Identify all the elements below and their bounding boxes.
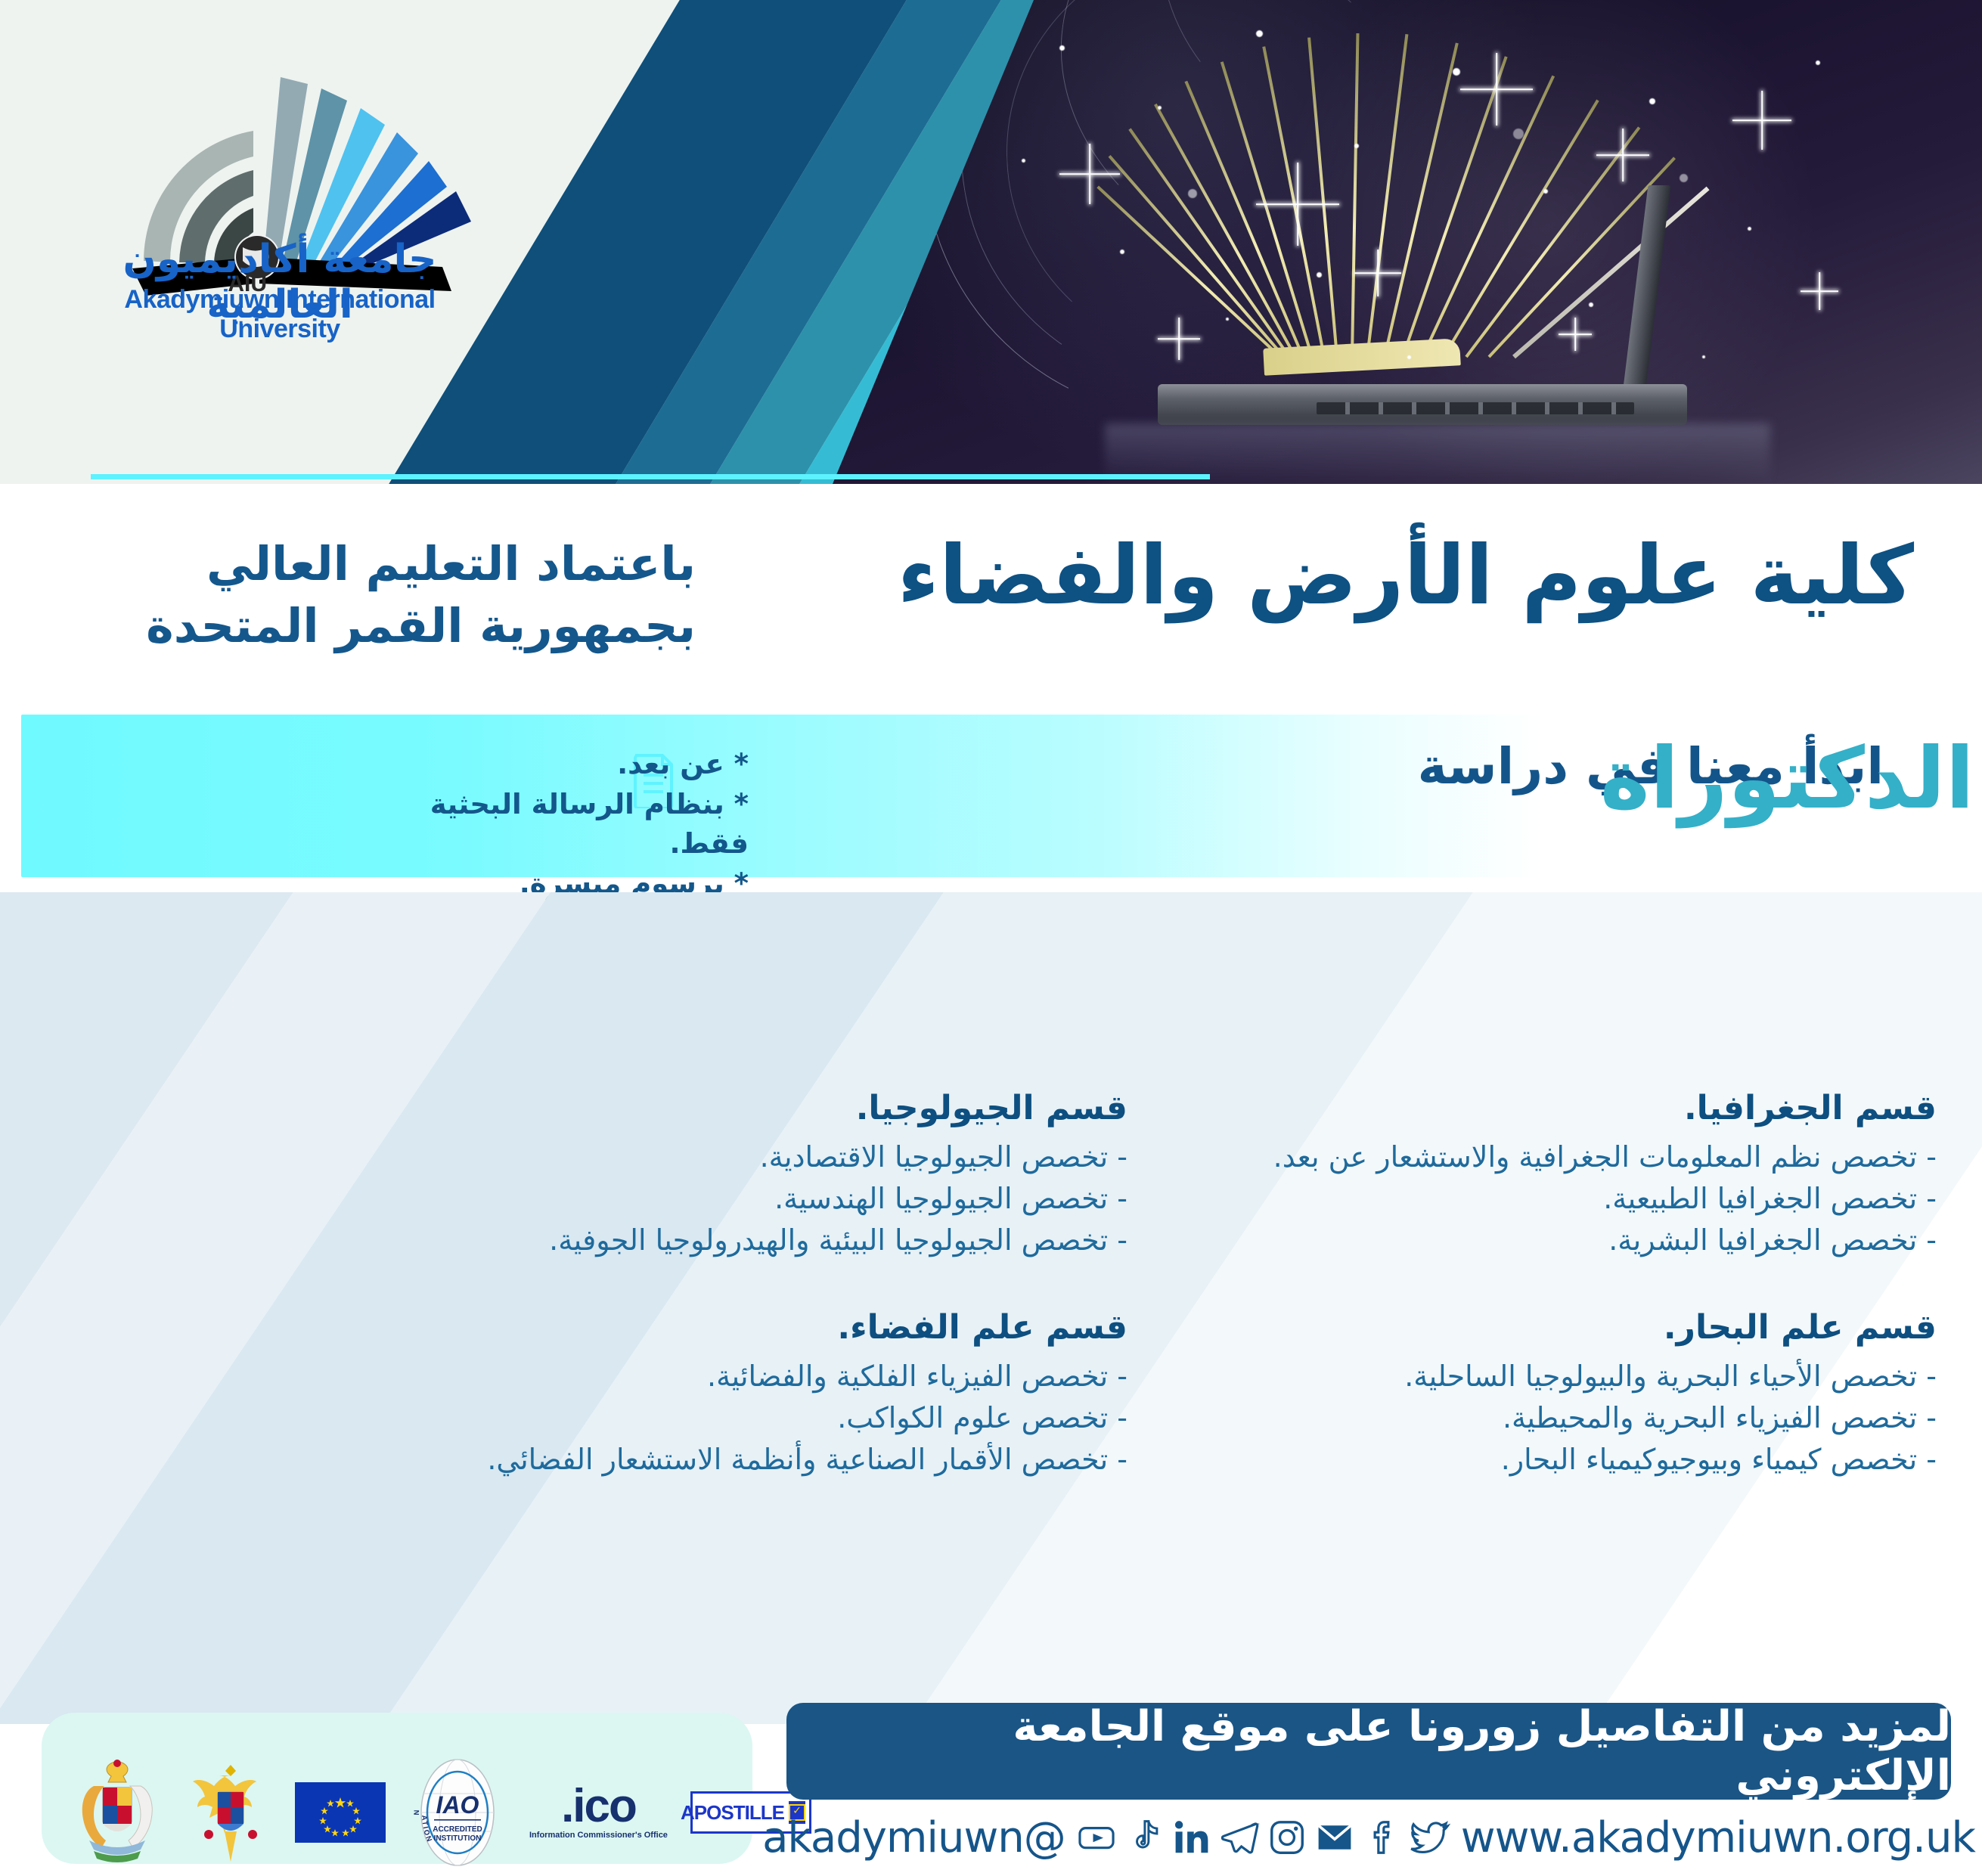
youtube-icon[interactable] [1076,1817,1117,1858]
department-item: - تخصص نظم المعلومات الجغرافية والاستشعا… [1180,1136,1937,1178]
facebook-icon[interactable] [1362,1817,1403,1858]
ico-sublabel: Information Commissioner's Office [529,1831,668,1840]
accreditation-note: باعتماد التعليم العالي بجمهورية القمر ال… [91,533,696,657]
degree-label: الدكتوراة [1022,730,1974,828]
department-item: - تخصص الجغرافيا الطبيعية. [1180,1178,1937,1220]
cta-banner[interactable]: لمزيد من التفاصيل زورونا على موقع الجامع… [786,1703,1951,1800]
accreditation-badges: ✓ APOSTILLE ico. Information Commissione… [68,1756,811,1869]
email-icon[interactable] [1314,1817,1355,1858]
department-title: قسم علم الفضاء. [447,1308,1127,1347]
department-geography: قسم الجغرافيا. - تخصص نظم المعلومات الجغ… [1180,1089,1937,1261]
logo-name-english: Akadymiuwn International University [64,285,495,344]
romania-eagle-icon [189,1756,272,1869]
svg-text:IAO: IAO [436,1791,479,1819]
poster-root: AIU جامعة أكاديميون العالمية Akadymiuwn … [0,0,1982,1876]
social-icons [1076,1817,1450,1858]
header-banner: AIU جامعة أكاديميون العالمية Akadymiuwn … [0,0,1982,484]
department-item: - تخصص الفيزياء الفلكية والفضائية. [447,1356,1127,1397]
departments-grid: قسم الجغرافيا. - تخصص نظم المعلومات الجغ… [0,1089,1982,1512]
telegram-icon[interactable] [1219,1817,1260,1858]
department-item: - تخصص الجيولوجيا البيئية والهيدرولوجيا … [470,1220,1127,1261]
twitter-icon[interactable] [1410,1817,1450,1858]
department-item: - تخصص الجغرافيا البشرية. [1180,1220,1937,1261]
department-item: - تخصص الفيزياء البحرية والمحيطية. [1180,1397,1937,1439]
page-title: كلية علوم الأرض والفضاء [817,529,1914,623]
department-title: قسم علم البحار. [1180,1308,1937,1347]
ico-label: ico. [561,1785,636,1828]
header-photo-book-laptop [833,0,1982,484]
department-space-science: قسم علم الفضاء. - تخصص الفيزياء الفلكية … [447,1308,1127,1481]
program-feature-1: * عن بعد. [355,745,749,785]
iao-globe-icon: IAO ACCREDITED INSTITUTION INTERNATIONAL… [408,1756,507,1869]
website-url[interactable]: www.akadymiuwn.org.uk [1461,1813,1975,1862]
program-features: * عن بعد. * بنظام الرسالة البحثية فقط. *… [355,745,749,904]
iao-badge: IAO ACCREDITED INSTITUTION INTERNATIONAL… [408,1756,507,1869]
romania-coat-of-arms-badge [189,1756,272,1869]
ico-badge: ico. Information Commissioner's Office [529,1785,668,1840]
uk-royal-arms-icon [68,1756,166,1869]
instagram-icon[interactable] [1267,1817,1307,1858]
accreditation-line-2: بجمهورية القمر المتحدة [91,595,696,657]
tiktok-icon[interactable] [1124,1817,1165,1858]
department-item: - تخصص الأحياء البحرية والبيولوجيا الساح… [1180,1356,1937,1397]
linkedin-icon[interactable] [1171,1817,1212,1858]
department-item: - تخصص الجيولوجيا الهندسية. [470,1178,1127,1220]
department-title: قسم الجيولوجيا. [470,1089,1127,1127]
program-feature-2: * بنظام الرسالة البحثية فقط. [355,785,749,864]
cta-text: لمزيد من التفاصيل زورونا على موقع الجامع… [786,1702,1951,1800]
uk-royal-coat-of-arms-badge [68,1756,166,1869]
department-item: - تخصص علوم الكواكب. [447,1397,1127,1439]
department-item: - تخصص كيمياء وبيوجيوكيمياء البحار. [1180,1439,1937,1481]
department-geology: قسم الجيولوجيا. - تخصص الجيولوجيا الاقتص… [470,1089,1127,1261]
department-item: - تخصص الجيولوجيا الاقتصادية. [470,1136,1127,1178]
social-handle[interactable]: @akadymiuwn [762,1813,1065,1862]
department-marine-science: قسم علم البحار. - تخصص الأحياء البحرية و… [1180,1308,1937,1481]
svg-text:INTERNATIONAL ACCREDITATION: INTERNATIONAL ACCREDITATION [408,1756,421,1816]
eu-flag-icon [295,1782,386,1843]
department-item: - تخصص الأقمار الصناعية وأنظمة الاستشعار… [447,1439,1127,1481]
eu-flag-badge [295,1782,386,1843]
department-title: قسم الجغرافيا. [1180,1089,1937,1127]
svg-text:ACCREDITED: ACCREDITED [433,1825,482,1834]
accreditation-line-1: باعتماد التعليم العالي [91,533,696,595]
svg-text:INSTITUTION: INSTITUTION [434,1834,482,1843]
university-logo: AIU جامعة أكاديميون العالمية Akadymiuwn … [64,42,495,314]
header-underline [91,474,1210,479]
contact-bar: www.akadymiuwn.org.uk [786,1807,1951,1868]
